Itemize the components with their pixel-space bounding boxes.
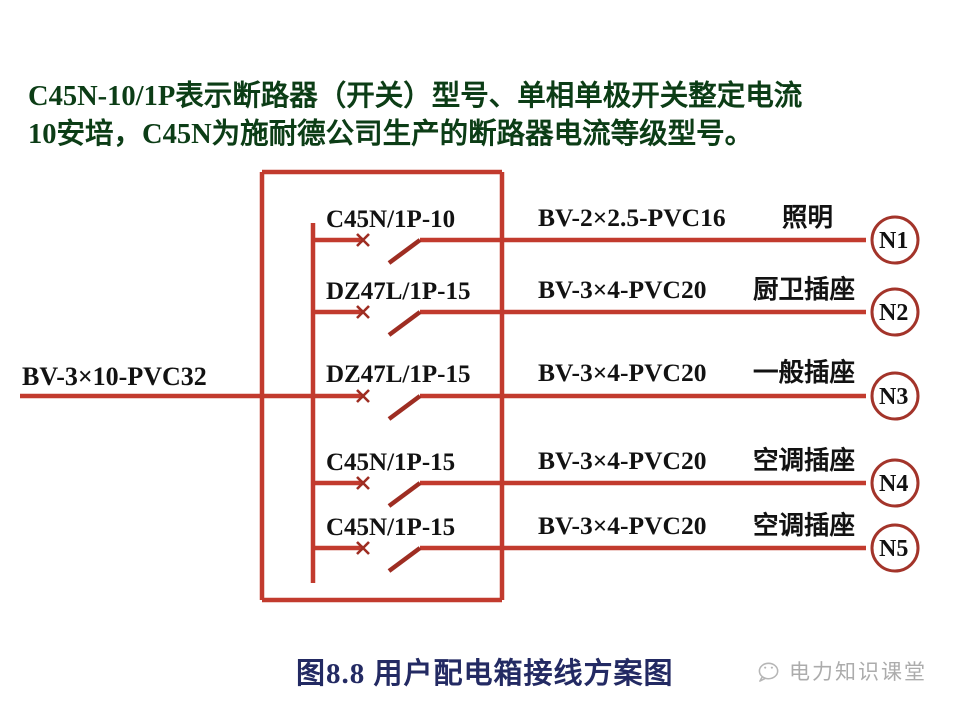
circuit-5-load-label: 空调插座 (753, 513, 855, 539)
circuit-4-cable-label: BV-3×4-PVC20 (538, 448, 706, 474)
circuit-1-switch-blade (389, 240, 420, 263)
circuit-5-cable-label: BV-3×4-PVC20 (538, 513, 706, 539)
circuit-3-load-label: 一般插座 (753, 360, 855, 386)
circuit-1-terminal-label: N1 (879, 229, 908, 253)
chat-bubble-icon (757, 659, 782, 684)
circuit-2-breaker-label: DZ47L/1P-15 (326, 279, 470, 304)
circuit-3-cable-label: BV-3×4-PVC20 (538, 360, 706, 386)
circuit-2-switch-blade (389, 312, 420, 335)
circuit-2-terminal-label: N2 (879, 301, 908, 325)
circuit-1-load-label: 照明 (782, 205, 833, 231)
circuit-4-breaker-label: C45N/1P-15 (326, 450, 455, 475)
circuit-3-breaker-label: DZ47L/1P-15 (326, 362, 470, 387)
watermark: 电力知识课堂 (757, 656, 927, 686)
slide-canvas: C45N-10/1P表示断路器（开关）型号、单相单极开关整定电流 10安培，C4… (0, 0, 960, 720)
main-feeder-label: BV-3×10-PVC32 (22, 364, 207, 390)
circuit-2-load-label: 厨卫插座 (753, 277, 855, 303)
circuit-5-terminal-label: N5 (879, 537, 908, 561)
figure-caption: 图8.8 用户配电箱接线方案图 (296, 650, 674, 692)
circuit-1-breaker-label: C45N/1P-10 (326, 207, 455, 232)
circuit-4-terminal-label: N4 (879, 472, 908, 496)
circuit-4-load-label: 空调插座 (753, 448, 855, 474)
circuit-1-cable-label: BV-2×2.5-PVC16 (538, 205, 726, 231)
watermark-text: 电力知识课堂 (789, 656, 927, 686)
circuit-3-switch-blade (389, 396, 420, 419)
circuit-4-switch-blade (389, 483, 420, 506)
circuit-5-switch-blade (389, 548, 420, 571)
circuit-5-breaker-label: C45N/1P-15 (326, 515, 455, 540)
circuit-2-cable-label: BV-3×4-PVC20 (538, 277, 706, 303)
circuit-3-terminal-label: N3 (879, 385, 908, 409)
